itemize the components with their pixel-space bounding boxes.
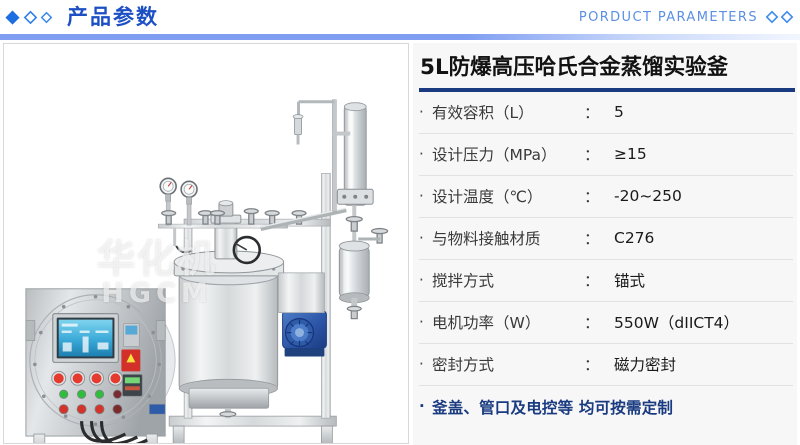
diamond-outline-icon bbox=[765, 10, 779, 24]
spec-value: -20~250 bbox=[614, 187, 793, 205]
table-row: · 搅拌方式 ： 锚式 bbox=[419, 260, 793, 302]
spec-label: 有效容积（L） bbox=[432, 101, 584, 123]
spec-label: 电机功率（W） bbox=[432, 311, 584, 333]
customization-note: 釜盖、管口及电控等 均可按需定制 bbox=[432, 396, 673, 418]
page-body: 华化机 HGCM 5L防爆高压哈氏合金蒸馏实验釜 · 有效容积（L） ： 5 ·… bbox=[0, 40, 800, 445]
bullet-icon: · bbox=[419, 189, 432, 204]
bullet-icon: · bbox=[419, 231, 432, 246]
spec-label: 与物料接触材质 bbox=[432, 227, 584, 249]
header-left-diamonds bbox=[4, 9, 53, 26]
product-photo[interactable]: 华化机 HGCM bbox=[3, 43, 409, 444]
page-header: 产品参数 PORDUCT PARAMETERS bbox=[0, 0, 800, 34]
table-row: · 与物料接触材质 ： C276 bbox=[419, 218, 793, 260]
spec-panel: 5L防爆高压哈氏合金蒸馏实验釜 · 有效容积（L） ： 5 · 设计压力（MPa… bbox=[413, 43, 797, 445]
table-row: · 有效容积（L） ： 5 bbox=[419, 92, 793, 134]
spec-colon: ： bbox=[584, 269, 614, 291]
bullet-icon: · bbox=[419, 315, 432, 330]
spec-value: C276 bbox=[614, 229, 793, 247]
spec-colon: ： bbox=[584, 101, 614, 123]
spec-label: 设计压力（MPa） bbox=[432, 143, 584, 165]
bullet-icon: · bbox=[419, 273, 432, 288]
product-parameter-page: 产品参数 PORDUCT PARAMETERS bbox=[0, 0, 800, 445]
spec-value: 5 bbox=[614, 103, 793, 121]
table-row: · 设计温度（℃） ： -20~250 bbox=[419, 176, 793, 218]
spec-value: ≥15 bbox=[614, 145, 793, 163]
spec-colon: ： bbox=[584, 227, 614, 249]
page-subtitle: PORDUCT PARAMETERS bbox=[579, 10, 758, 25]
bullet-icon: · bbox=[419, 399, 432, 414]
table-row: · 电机功率（W） ： 550W（dIICT4） bbox=[419, 302, 793, 344]
bullet-icon: · bbox=[419, 147, 432, 162]
spec-value: 550W（dIICT4） bbox=[614, 311, 793, 333]
spec-label: 密封方式 bbox=[432, 353, 584, 375]
spec-table: · 有效容积（L） ： 5 · 设计压力（MPa） ： ≥15 · 设计温度（℃… bbox=[413, 92, 797, 445]
customization-note-row: · 釜盖、管口及电控等 均可按需定制 bbox=[419, 386, 793, 428]
diamond-outline-icon bbox=[23, 10, 38, 25]
diamond-outline-small-icon bbox=[40, 11, 53, 24]
spec-value: 锚式 bbox=[614, 269, 793, 291]
spec-colon: ： bbox=[584, 311, 614, 333]
control-cabinet bbox=[26, 289, 175, 443]
table-row: · 设计压力（MPa） ： ≥15 bbox=[419, 134, 793, 176]
spec-colon: ： bbox=[584, 143, 614, 165]
page-title: 产品参数 bbox=[67, 7, 159, 28]
spec-colon: ： bbox=[584, 185, 614, 207]
bullet-icon: · bbox=[419, 105, 432, 120]
header-right-diamonds bbox=[765, 10, 794, 24]
bullet-icon: · bbox=[419, 357, 432, 372]
product-photo-graphic bbox=[4, 44, 408, 443]
product-name: 5L防爆高压哈氏合金蒸馏实验釜 bbox=[413, 43, 797, 88]
spec-colon: ： bbox=[584, 353, 614, 375]
spec-value: 磁力密封 bbox=[614, 353, 793, 375]
spec-label: 设计温度（℃） bbox=[432, 185, 584, 207]
table-row: · 密封方式 ： 磁力密封 bbox=[419, 344, 793, 386]
spec-label: 搅拌方式 bbox=[432, 269, 584, 291]
diamond-filled-icon bbox=[4, 9, 21, 26]
diamond-outline-small-icon bbox=[780, 10, 794, 24]
